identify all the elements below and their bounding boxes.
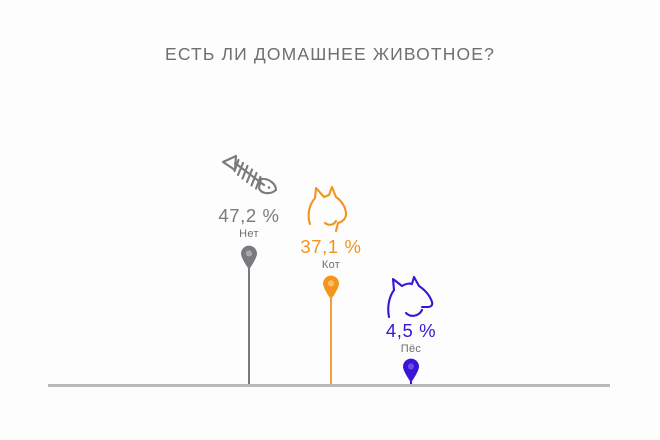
- category-label-cat: Кот: [251, 259, 411, 271]
- infographic-chart: ЕСТЬ ЛИ ДОМАШНЕЕ ЖИВОТНОЕ? 4: [0, 0, 660, 440]
- dog-head-icon: [376, 273, 446, 325]
- pin-stem-no: [248, 266, 249, 385]
- value-label-dog: 4,5 %: [331, 320, 491, 342]
- category-label-dog: Пёс: [331, 343, 491, 355]
- chart-baseline: [48, 384, 610, 387]
- chart-title: ЕСТЬ ЛИ ДОМАШНЕЕ ЖИВОТНОЕ?: [0, 44, 660, 65]
- cat-head-icon: [296, 183, 366, 235]
- value-label-cat: 37,1 %: [251, 236, 411, 258]
- fish-skeleton-icon: [214, 152, 284, 204]
